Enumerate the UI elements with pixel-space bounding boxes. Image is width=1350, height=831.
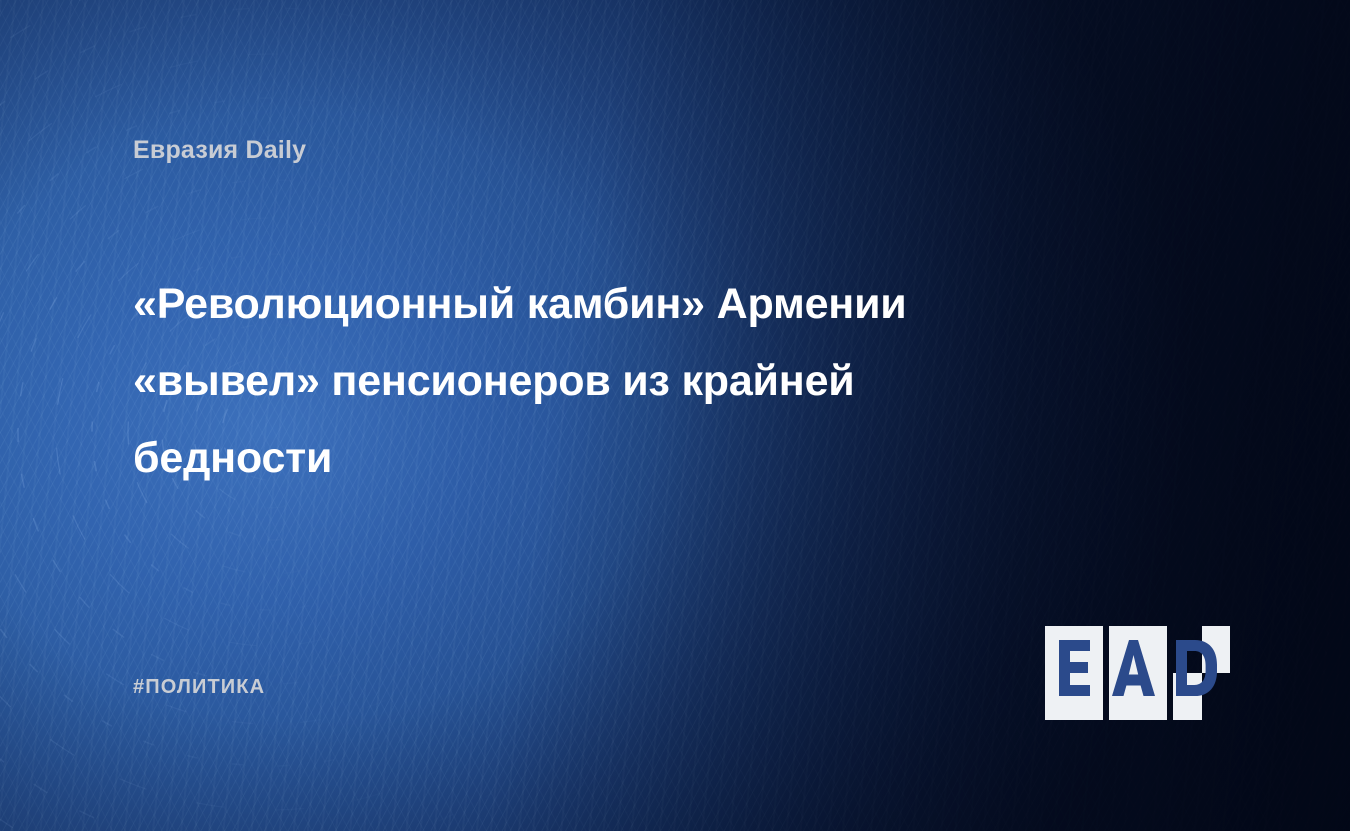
headline-line-1: «Революционный камбин» Армении — [133, 266, 1093, 343]
site-brand-name: Евразия Daily — [133, 136, 306, 165]
article-cover-card: Евразия Daily «Революционный камбин» Арм… — [0, 0, 1350, 831]
page-title: «Революционный камбин» Армении «вывел» п… — [133, 266, 1093, 497]
ead-logo[interactable] — [1045, 626, 1230, 720]
headline-line-2: «вывел» пенсионеров из крайней — [133, 343, 1093, 420]
headline-line-3: бедности — [133, 420, 1093, 497]
cover-content: Евразия Daily «Революционный камбин» Арм… — [0, 0, 1350, 831]
category-tag[interactable]: #ПОЛИТИКА — [133, 676, 265, 699]
